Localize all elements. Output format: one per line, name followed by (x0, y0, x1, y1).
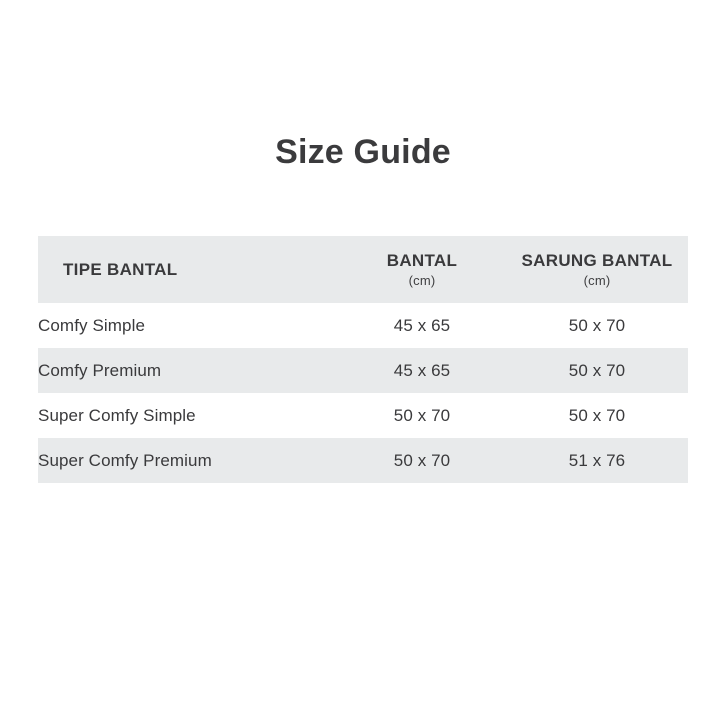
cell-type: Comfy Premium (38, 348, 338, 393)
cell-pillowcase-size: 51 x 76 (506, 438, 688, 483)
column-header-bantal-unit: (cm) (338, 271, 506, 290)
cell-pillowcase-size: 50 x 70 (506, 393, 688, 438)
column-header-sarung-bantal-label: SARUNG BANTAL (506, 250, 688, 271)
cell-type: Super Comfy Premium (38, 438, 338, 483)
cell-pillow-size: 50 x 70 (338, 438, 506, 483)
column-header-sarung-bantal-unit: (cm) (506, 271, 688, 290)
table-row: Comfy Premium 45 x 65 50 x 70 (38, 348, 688, 393)
column-header-sarung-bantal: SARUNG BANTAL (cm) (506, 236, 688, 303)
cell-pillow-size: 45 x 65 (338, 348, 506, 393)
cell-pillowcase-size: 50 x 70 (506, 303, 688, 348)
cell-type: Comfy Simple (38, 303, 338, 348)
cell-pillowcase-size: 50 x 70 (506, 348, 688, 393)
column-header-bantal-label: BANTAL (338, 250, 506, 271)
table-header-row: TIPE BANTAL BANTAL (cm) SARUNG BANTAL (c… (38, 236, 688, 303)
table-header: TIPE BANTAL BANTAL (cm) SARUNG BANTAL (c… (38, 236, 688, 303)
table-row: Comfy Simple 45 x 65 50 x 70 (38, 303, 688, 348)
table-row: Super Comfy Premium 50 x 70 51 x 76 (38, 438, 688, 483)
column-header-bantal: BANTAL (cm) (338, 236, 506, 303)
table-row: Super Comfy Simple 50 x 70 50 x 70 (38, 393, 688, 438)
column-header-tipe-bantal: TIPE BANTAL (38, 236, 338, 303)
page-title: Size Guide (0, 130, 726, 174)
cell-pillow-size: 45 x 65 (338, 303, 506, 348)
size-guide-page: Size Guide TIPE BANTAL BANTAL (cm) SARUN… (0, 0, 726, 726)
cell-type: Super Comfy Simple (38, 393, 338, 438)
size-guide-table: TIPE BANTAL BANTAL (cm) SARUNG BANTAL (c… (38, 236, 688, 483)
cell-pillow-size: 50 x 70 (338, 393, 506, 438)
table-body: Comfy Simple 45 x 65 50 x 70 Comfy Premi… (38, 303, 688, 483)
